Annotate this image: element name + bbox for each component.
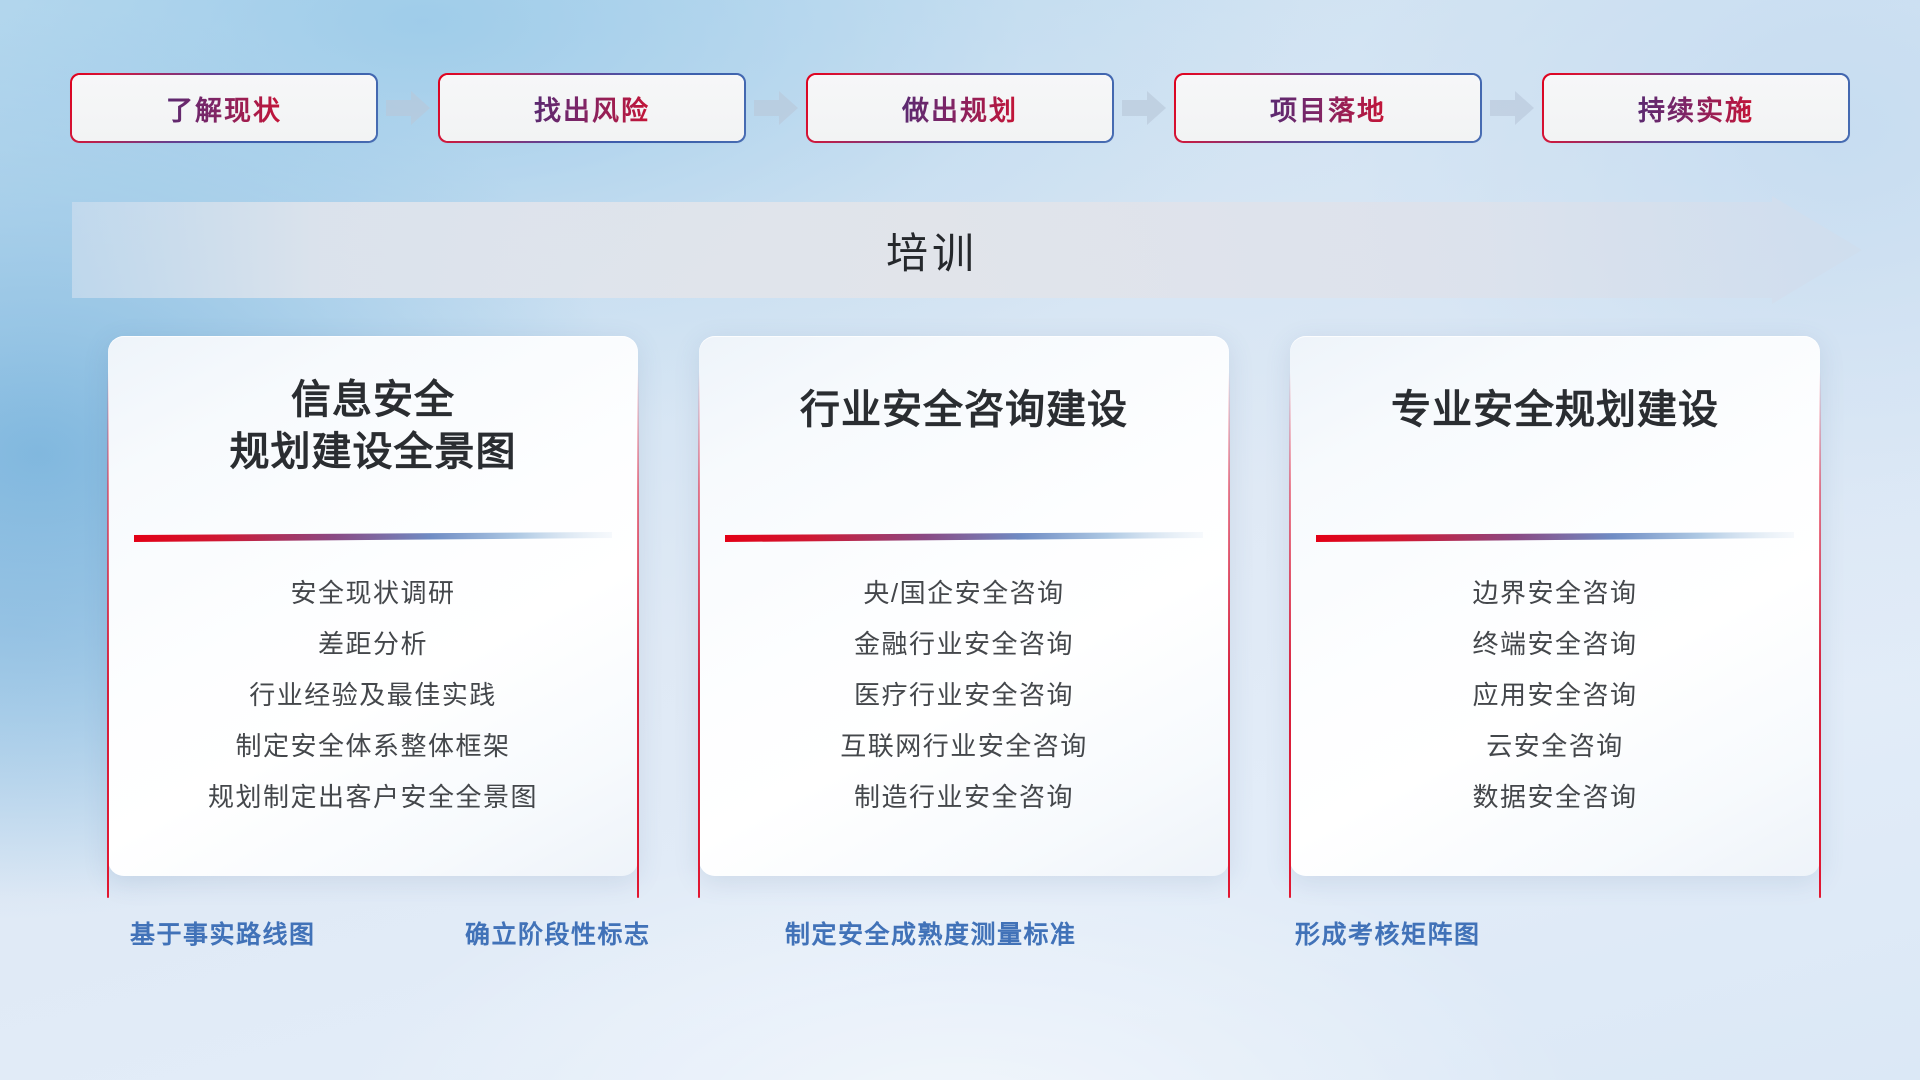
step-box-5[interactable]: 持续实施 <box>1544 75 1848 141</box>
card-edge-right <box>1819 372 1821 898</box>
caption-4: 形成考核矩阵图 <box>1295 915 1481 951</box>
step-label-2: 找出风险 <box>440 75 744 141</box>
step-label-3: 做出规划 <box>808 75 1112 141</box>
step-box-4[interactable]: 项目落地 <box>1176 75 1480 141</box>
caption-1: 基于事实路线图 <box>130 915 316 951</box>
caption-3: 制定安全成熟度测量标准 <box>785 915 1077 951</box>
step-label-4: 项目落地 <box>1176 75 1480 141</box>
arrow-right-icon-4 <box>1490 91 1534 125</box>
list-item: 应用安全咨询 <box>1312 670 1798 721</box>
caption-2: 确立阶段性标志 <box>465 915 651 951</box>
card-list-3: 边界安全咨询 终端安全咨询 应用安全咨询 云安全咨询 数据安全咨询 <box>1312 568 1798 823</box>
card-row: 信息安全 规划建设全景图 <box>108 336 1820 876</box>
list-item: 差距分析 <box>130 619 616 670</box>
card-list-2: 央/国企安全咨询 金融行业安全咨询 医疗行业安全咨询 互联网行业安全咨询 制造行… <box>721 568 1207 823</box>
card-divider-1 <box>134 532 612 543</box>
list-item: 规划制定出客户安全全景图 <box>130 772 616 823</box>
list-item: 数据安全咨询 <box>1312 772 1798 823</box>
arrow-right-icon-1 <box>386 91 430 125</box>
step-label-1: 了解现状 <box>72 75 376 141</box>
process-step-row: 了解现状 找出风险 做出规划 项目落地 <box>72 75 1848 141</box>
card-divider-2 <box>725 532 1203 543</box>
training-banner-label: 培训 <box>72 196 1862 304</box>
arrow-right-icon-2 <box>754 91 798 125</box>
caption-row: 基于事实路线图 确立阶段性标志 制定安全成熟度测量标准 形成考核矩阵图 <box>0 915 1920 959</box>
step-label-5: 持续实施 <box>1544 75 1848 141</box>
list-item: 边界安全咨询 <box>1312 568 1798 619</box>
list-item: 互联网行业安全咨询 <box>721 721 1207 772</box>
step-box-2[interactable]: 找出风险 <box>440 75 744 141</box>
arrow-right-icon-3 <box>1122 91 1166 125</box>
card-title-3: 专业安全规划建设 <box>1290 384 1820 436</box>
list-item: 终端安全咨询 <box>1312 619 1798 670</box>
list-item: 云安全咨询 <box>1312 721 1798 772</box>
step-box-1[interactable]: 了解现状 <box>72 75 376 141</box>
card-industry-security-consulting[interactable]: 行业安全咨询建设 <box>699 336 1229 876</box>
card-professional-security-planning[interactable]: 专业安全规划建设 <box>1290 336 1820 876</box>
training-banner: 培训 <box>72 196 1862 304</box>
list-item: 制造行业安全咨询 <box>721 772 1207 823</box>
slide-canvas: 了解现状 找出风险 做出规划 项目落地 <box>0 0 1920 1080</box>
list-item: 金融行业安全咨询 <box>721 619 1207 670</box>
card-edge-left <box>1289 372 1291 898</box>
list-item: 医疗行业安全咨询 <box>721 670 1207 721</box>
step-box-3[interactable]: 做出规划 <box>808 75 1112 141</box>
card-information-security-blueprint[interactable]: 信息安全 规划建设全景图 <box>108 336 638 876</box>
card-edge-left <box>698 372 700 898</box>
list-item: 央/国企安全咨询 <box>721 568 1207 619</box>
card-list-1: 安全现状调研 差距分析 行业经验及最佳实践 制定安全体系整体框架 规划制定出客户… <box>130 568 616 823</box>
card-title-2: 行业安全咨询建设 <box>699 384 1229 436</box>
card-edge-right <box>1228 372 1230 898</box>
card-title-1: 信息安全 规划建设全景图 <box>108 374 638 478</box>
list-item: 制定安全体系整体框架 <box>130 721 616 772</box>
list-item: 安全现状调研 <box>130 568 616 619</box>
list-item: 行业经验及最佳实践 <box>130 670 616 721</box>
card-divider-3 <box>1316 532 1794 543</box>
